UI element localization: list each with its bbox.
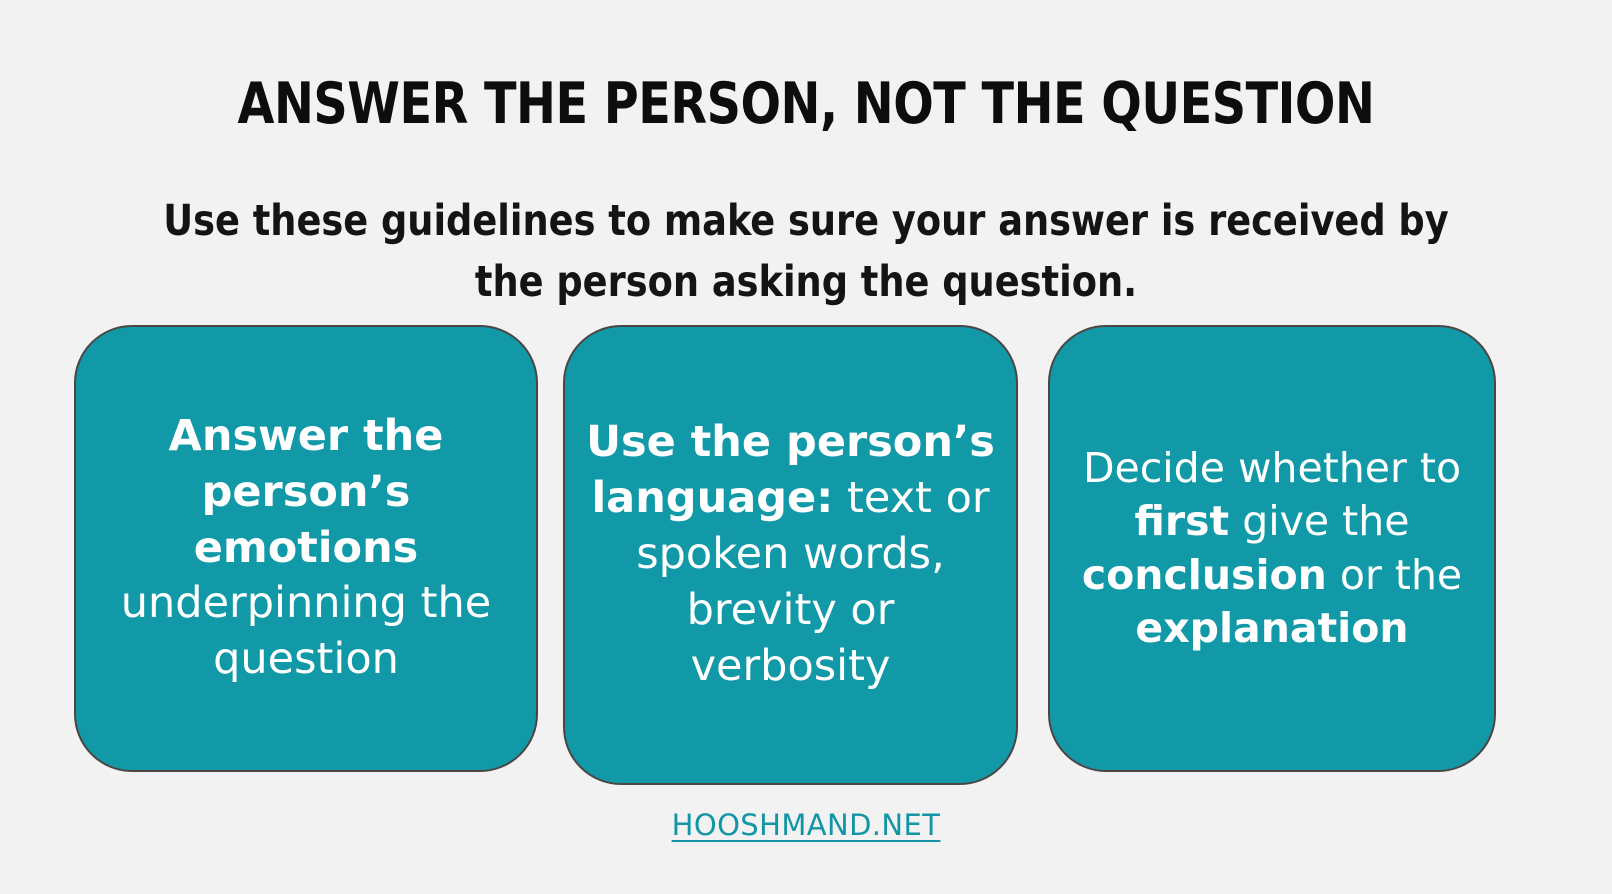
page-subtitle: Use these guidelines to make sure your a… bbox=[132, 191, 1481, 313]
guideline-card-text: Decide whether to first give the conclus… bbox=[1050, 442, 1494, 655]
page-title: ANSWER THE PERSON, NOT THE QUESTION bbox=[56, 74, 1555, 136]
guideline-card-use-persons-language: Use the person’s language: text or spoke… bbox=[563, 325, 1018, 785]
guideline-card-answer-emotions: Answer the person’s emotions underpinnin… bbox=[74, 325, 538, 772]
footer: HOOSHMAND.NET bbox=[0, 808, 1612, 842]
guideline-card-text: Answer the person’s emotions underpinnin… bbox=[76, 409, 536, 688]
guideline-card-text: Use the person’s language: text or spoke… bbox=[565, 415, 1016, 694]
website-link[interactable]: HOOSHMAND.NET bbox=[672, 808, 941, 842]
guideline-card-conclusion-or-explanation: Decide whether to first give the conclus… bbox=[1048, 325, 1496, 772]
infographic-page: ANSWER THE PERSON, NOT THE QUESTION Use … bbox=[0, 0, 1612, 894]
guideline-card-row: Answer the person’s emotions underpinnin… bbox=[74, 325, 1496, 787]
